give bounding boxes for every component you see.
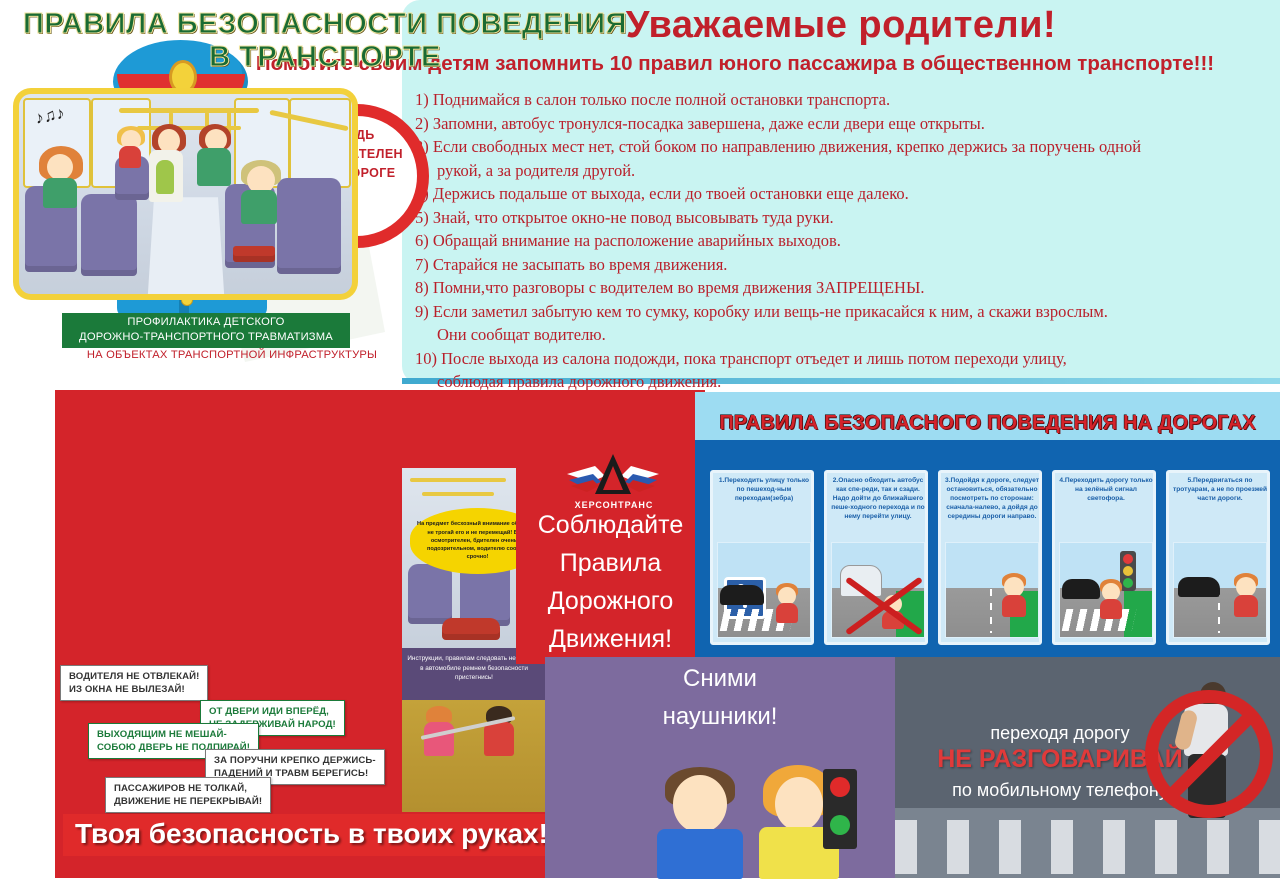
headphones-message: Сними наушники! <box>545 660 895 736</box>
road-rule-card: 3.Подойдя к дороге, следует остановиться… <box>938 470 1042 645</box>
rule-item: 3) Если свободных мест нет, стой боком п… <box>415 135 1280 159</box>
road-scene <box>1059 542 1153 638</box>
road-panel-title: ПРАВИЛА БЕЗОПАСНОГО ПОВЕДЕНИЯ НА ДОРОГАХ <box>695 412 1280 435</box>
zebra-crossing <box>1062 609 1137 631</box>
road-rule-card: 2.Опасно обходить автобус как спе-реди, … <box>824 470 928 645</box>
road-rule-text: 1.Переходить улицу только по пешеход-ным… <box>716 476 812 503</box>
hersontrans-logo-icon <box>565 452 661 504</box>
rule-item: 5) Знай, что открытое окно-не повод высо… <box>415 206 1280 230</box>
rule-item: 4) Держись подальше от выхода, если до т… <box>415 182 1280 206</box>
bus-interior-illustration: ♪♫♪ <box>13 88 358 300</box>
infrastructure-banner: НА ОБЪЕКТАХ ТРАНСПОРТНОЙ ИНФРАСТРУКТУРЫ <box>56 349 408 361</box>
rule-item: 2) Запомни, автобус тронулся-посадка зав… <box>415 112 1280 136</box>
headphones-line-1: Сними <box>545 660 895 698</box>
transport-title-line1: ПРАВИЛА БЕЗОПАСНОСТИ ПОВЕДЕНИЯ <box>0 8 650 41</box>
rules-list: 1) Поднимайся в салон только после полно… <box>415 88 1280 394</box>
prevention-banner: ПРОФИЛАКТИКА ДЕТСКОГО ДОРОЖНО-ТРАНСПОРТН… <box>62 313 350 348</box>
road-rule-card: 1.Переходить улицу только по пешеход-ным… <box>710 470 814 645</box>
road-scene <box>831 542 925 638</box>
rule-item-cont: рукой, а за родителя другой. <box>415 159 1280 183</box>
rule-item: 9) Если заметил забытую кем то сумку, ко… <box>415 300 1280 324</box>
road-centerline <box>990 589 992 633</box>
car-icon <box>1178 577 1220 597</box>
transport-title-line2: В ТРАНСПОРТЕ <box>0 41 650 74</box>
road-rule-text: 2.Опасно обходить автобус как спе-реди, … <box>830 476 926 521</box>
rule-item: 10) После выхода из салона подожди, пока… <box>415 347 1280 371</box>
car-seatbelt-photo <box>402 700 545 812</box>
hersontrans-slogan: Соблюдайте Правила Дорожного Движения! <box>516 506 705 658</box>
road-rule-text: 5.Передвигаться по тротуарам, а не по пр… <box>1172 476 1268 503</box>
prohibition-sign-icon <box>1145 690 1273 818</box>
transport-panel-title: ПРАВИЛА БЕЗОПАСНОСТИ ПОВЕДЕНИЯ В ТРАНСПО… <box>0 8 650 74</box>
traffic-light-icon <box>823 769 857 849</box>
road-rule-card: 5.Передвигаться по тротуарам, а не по пр… <box>1166 470 1270 645</box>
road-scene <box>717 542 811 638</box>
rule-item-cont: Они сообщат водителю. <box>415 323 1280 347</box>
slogan-line-2: Правила <box>516 544 705 582</box>
slogan-line-1: Соблюдайте <box>516 506 705 544</box>
rule-item: 1) Поднимайся в салон только после полно… <box>415 88 1280 112</box>
zebra-crossing <box>895 820 1280 874</box>
headphones-line-2: наушники! <box>545 698 895 736</box>
slogan-line-3: Дорожного <box>516 582 705 620</box>
road-rule-text: 3.Подойдя к дороге, следует остановиться… <box>944 476 1040 521</box>
road-scene <box>945 542 1039 638</box>
car-icon <box>720 585 764 605</box>
prohibition-cross-icon <box>838 569 924 638</box>
slogan-line-4: Движения! <box>516 620 705 658</box>
road-rule-text: 4.Переходить дорогу только на зелёный си… <box>1058 476 1154 503</box>
road-rule-card: 4.Переходить дорогу только на зелёный си… <box>1052 470 1156 645</box>
car-icon <box>1062 579 1100 599</box>
road-scene <box>1173 542 1267 638</box>
traffic-light-icon <box>1120 551 1136 591</box>
callout-driver: ВОДИТЕЛЯ НЕ ОТВЛЕКАЙ! ИЗ ОКНА НЕ ВЫЛЕЗАЙ… <box>60 665 208 701</box>
poster-root: Уважаемые родители! Помогите своим детям… <box>0 0 1280 878</box>
rule-item: 6) Обращай внимание на расположение авар… <box>415 229 1280 253</box>
rule-item: 8) Помни,что разговоры с водителем во вр… <box>415 276 1280 300</box>
rule-item: 7) Старайся не засыпать во время движени… <box>415 253 1280 277</box>
callout-pushing: ПАССАЖИРОВ НЕ ТОЛКАЙ, ДВИЖЕНИЕ НЕ ПЕРЕКР… <box>105 777 271 813</box>
